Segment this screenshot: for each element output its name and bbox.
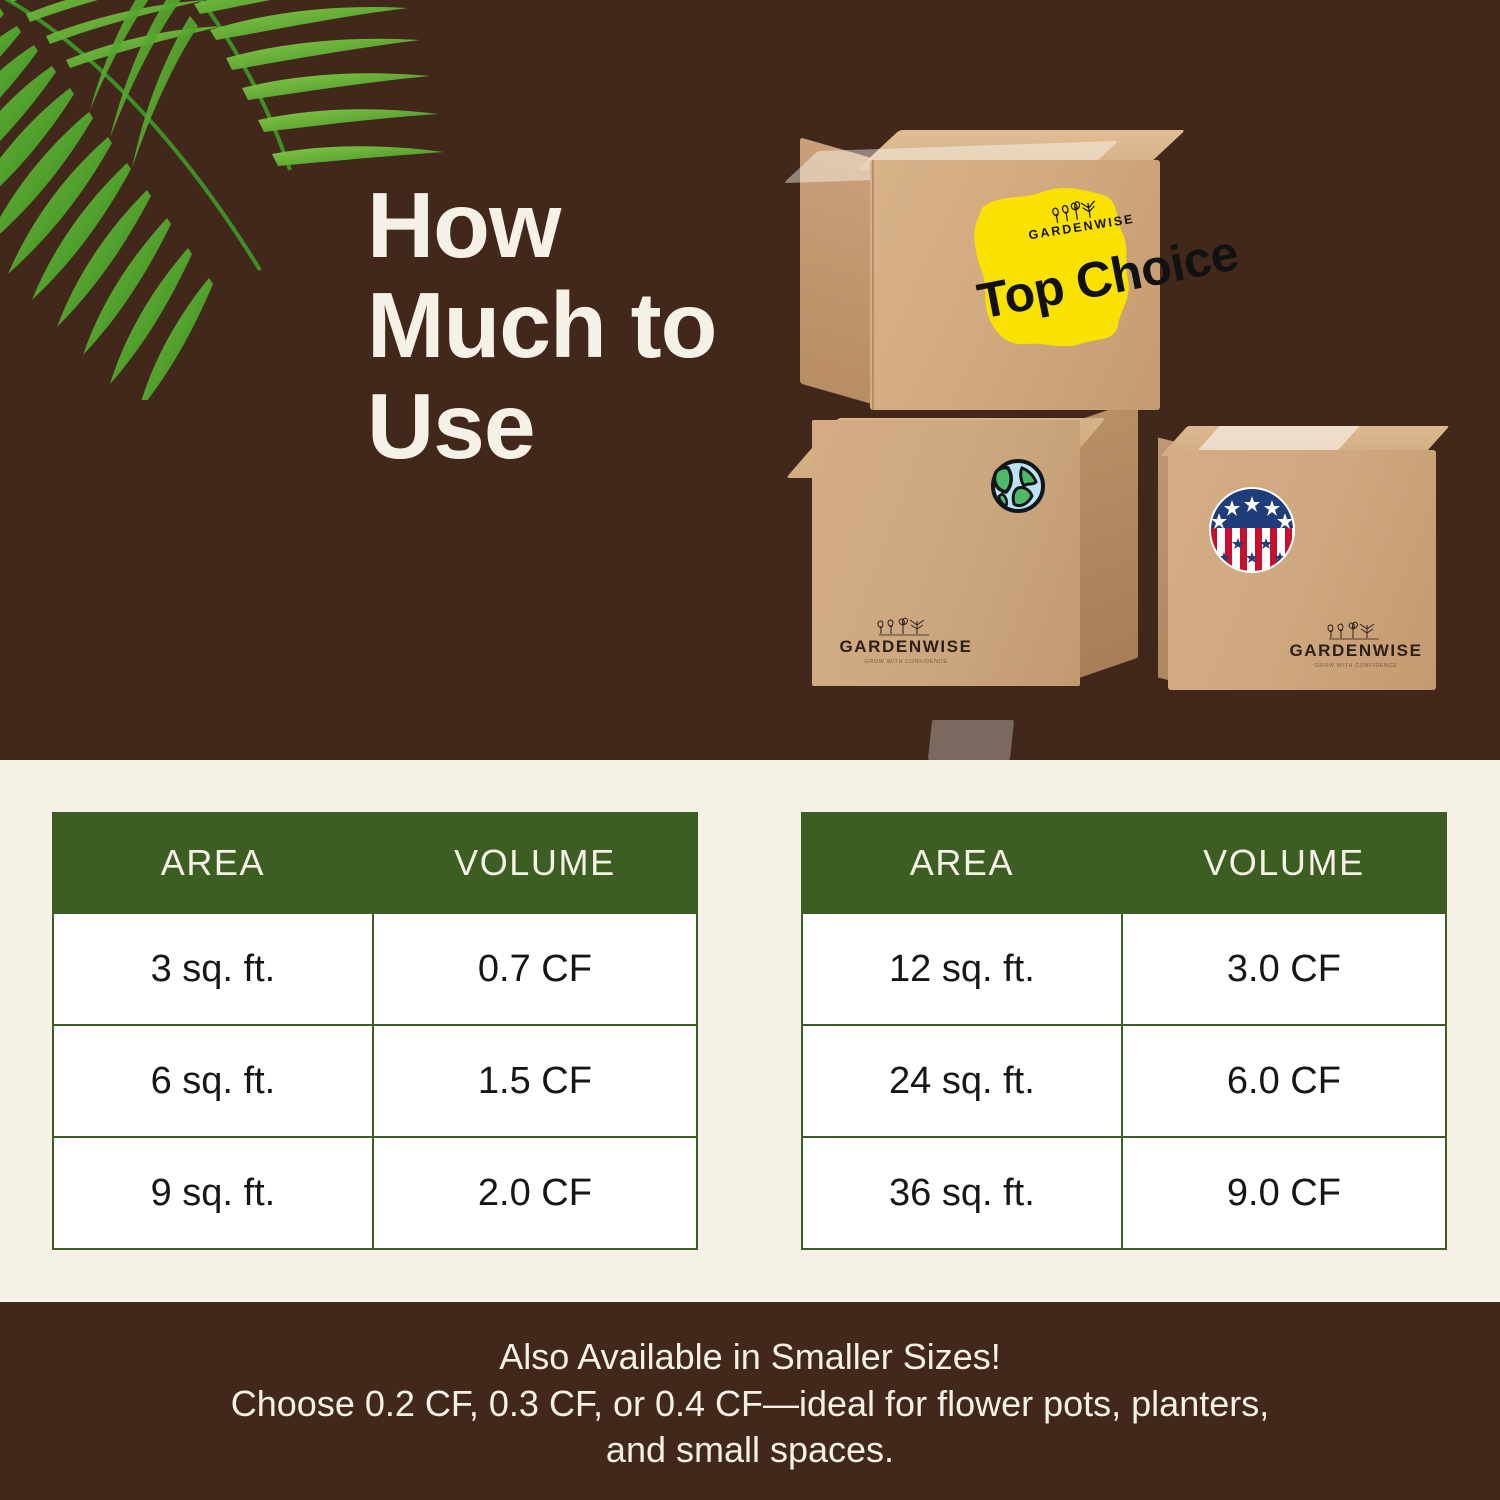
column-header-area: AREA: [53, 813, 373, 913]
page-title: How Much to Use: [367, 175, 787, 476]
box-right-front: GARDENWISE GROW WITH CONFIDENCE: [1168, 450, 1436, 690]
cell-volume: 0.7 CF: [373, 913, 697, 1025]
box-middle-front: GARDENWISE GROW WITH CONFIDENCE: [812, 420, 1080, 686]
cell-area: 9 sq. ft.: [53, 1137, 373, 1249]
box-top-edge-seam: [872, 160, 874, 410]
sprout-icon: [1327, 620, 1385, 640]
table-row: 12 sq. ft. 3.0 CF: [802, 913, 1446, 1025]
box-right-brand-logo: GARDENWISE GROW WITH CONFIDENCE: [1286, 620, 1426, 669]
coverage-table-small: AREA VOLUME 3 sq. ft. 0.7 CF 6 sq. ft. 1…: [52, 812, 698, 1250]
coverage-table-large: AREA VOLUME 12 sq. ft. 3.0 CF 24 sq. ft.…: [801, 812, 1447, 1250]
table-row: 9 sq. ft. 2.0 CF: [53, 1137, 697, 1249]
footer-line-3: and small spaces.: [606, 1427, 894, 1474]
cell-area: 12 sq. ft.: [802, 913, 1122, 1025]
table-row: 6 sq. ft. 1.5 CF: [53, 1025, 697, 1137]
coverage-tables-section: AREA VOLUME 3 sq. ft. 0.7 CF 6 sq. ft. 1…: [0, 760, 1500, 1302]
page-title-line-3: Use: [367, 376, 787, 476]
table-header-row: AREA VOLUME: [802, 813, 1446, 913]
footer-section: Also Available in Smaller Sizes! Choose …: [0, 1302, 1500, 1500]
footer-line-1: Also Available in Smaller Sizes!: [499, 1334, 1001, 1381]
cell-area: 24 sq. ft.: [802, 1025, 1122, 1137]
table-row: 3 sq. ft. 0.7 CF: [53, 913, 697, 1025]
cell-volume: 9.0 CF: [1122, 1137, 1446, 1249]
hero-section: How Much to Use: [0, 0, 1500, 760]
box-right-brand-tagline: GROW WITH CONFIDENCE: [1286, 663, 1426, 669]
footer-line-2: Choose 0.2 CF, 0.3 CF, or 0.4 CF—ideal f…: [231, 1381, 1269, 1428]
cell-volume: 1.5 CF: [373, 1025, 697, 1137]
page-title-line-2: Much to: [367, 275, 787, 375]
cell-volume: 3.0 CF: [1122, 913, 1446, 1025]
cell-volume: 2.0 CF: [373, 1137, 697, 1249]
box-middle-side: [1078, 400, 1138, 679]
column-header-area: AREA: [802, 813, 1122, 913]
cell-area: 6 sq. ft.: [53, 1025, 373, 1137]
page-title-line-1: How: [367, 175, 787, 275]
poster-root: How Much to Use: [0, 0, 1500, 1500]
box-middle-brand-tagline: GROW WITH CONFIDENCE: [836, 659, 976, 665]
table-row: 24 sq. ft. 6.0 CF: [802, 1025, 1446, 1137]
cell-area: 3 sq. ft.: [53, 913, 373, 1025]
cell-volume: 6.0 CF: [1122, 1025, 1446, 1137]
box-right-tape: [1196, 426, 1359, 452]
table-row: 36 sq. ft. 9.0 CF: [802, 1137, 1446, 1249]
product-box-stack: GARDENWISE GROW WITH CONFIDENCE: [790, 120, 1490, 740]
box-right-brand-name: GARDENWISE: [1286, 641, 1426, 661]
cell-area: 36 sq. ft.: [802, 1137, 1122, 1249]
sprout-icon: [877, 616, 935, 636]
eco-globe-sticker-icon: [978, 446, 1050, 518]
box-middle-tape: [928, 720, 1014, 760]
table-header-row: AREA VOLUME: [53, 813, 697, 913]
usa-flag-sticker-icon: [1208, 486, 1296, 574]
column-header-volume: VOLUME: [1122, 813, 1446, 913]
box-middle-brand-logo: GARDENWISE GROW WITH CONFIDENCE: [836, 616, 976, 665]
column-header-volume: VOLUME: [373, 813, 697, 913]
box-middle-brand-name: GARDENWISE: [836, 637, 976, 657]
